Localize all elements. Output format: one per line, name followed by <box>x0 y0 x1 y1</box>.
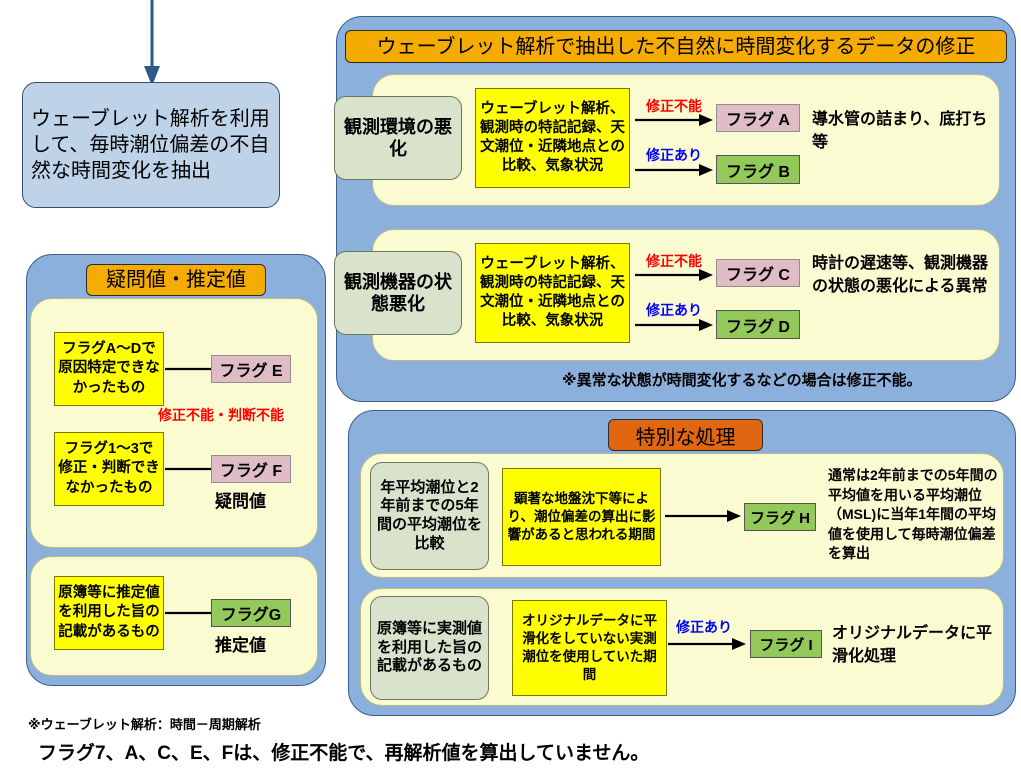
special-row-1-cause: 年平均潮位と2年前までの5年間の平均潮位を比較 <box>370 462 489 570</box>
special-row-1-flag: フラグ H <box>744 503 816 531</box>
questionable-row-2-condition: フラグ1～3で修正・判断できなかったもの <box>54 432 164 506</box>
footnote-1: ※ウェーブレット解析：時間－周期解析 <box>28 714 261 733</box>
special-row-2-arrow <box>668 637 748 651</box>
correction-row-1-flag-top: フラグ A <box>716 104 800 132</box>
intro-text: ウェーブレット解析を利用して、毎時潮位偏差の不自然な時間変化を抽出 <box>31 106 271 184</box>
estimated-condition: 原簿等に推定値を利用した旨の記載があるもの <box>54 576 164 650</box>
correction-row-2-arrow-bottom <box>635 318 715 332</box>
correction-row-1-label-bottom: 修正あり <box>646 145 702 165</box>
correction-row-2-arrow-top <box>635 268 715 282</box>
correction-row-1-arrow-top <box>635 113 715 127</box>
correction-row-2-description: 時計の遅速等、観測機器の状態の悪化による異常 <box>812 252 998 298</box>
method-text-2: ウェーブレット解析、観測時の特記記録、天文潮位・近隣地点との比較、気象状況 <box>479 255 626 332</box>
special-row-2-label: 修正あり <box>676 617 732 637</box>
questionable-red-label: 修正不能・判断不能 <box>158 405 284 425</box>
questionable-row-1-flag: フラグ E <box>211 355 291 383</box>
special-row-2-method: オリジナルデータに平滑化をしていない実測潮位を使用していた期間 <box>512 600 667 696</box>
correction-row-2-flag-bottom: フラグ D <box>716 310 800 339</box>
footnote-2: フラグ7、A、C、E、Fは、修正不能で、再解析値を算出していません。 <box>38 738 649 765</box>
correction-row-2-method: ウェーブレット解析、観測時の特記記録、天文潮位・近隣地点との比較、気象状況 <box>475 243 630 343</box>
panel-questionable-title-text: 疑問値・推定値 <box>106 270 246 290</box>
correction-row-1-cause: 観測環境の悪化 <box>334 96 462 180</box>
questionable-row-1-condition: フラグA～Dで原因特定できなかったもの <box>54 332 164 406</box>
correction-row-1-method: ウェーブレット解析、観測時の特記記録、天文潮位・近隣地点との比較、気象状況 <box>475 88 630 188</box>
panel-special-title: 特別な処理 <box>608 419 763 451</box>
correction-row-2-flag-top: フラグ C <box>716 259 800 287</box>
special-row-1-method: 顕著な地盤沈下等により、潮位偏差の算出に影響があると思われる期間 <box>502 468 661 566</box>
intro-box: ウェーブレット解析を利用して、毎時潮位偏差の不自然な時間変化を抽出 <box>22 82 280 208</box>
panel-correction-title: ウェーブレット解析で抽出した不自然に時間変化するデータの修正 <box>345 30 1007 63</box>
estimated-flag: フラグG <box>211 599 291 627</box>
panel-correction-title-text: ウェーブレット解析で抽出した不自然に時間変化するデータの修正 <box>377 37 976 57</box>
special-row-2-cause: 原簿等に実測値を利用した旨の記載があるもの <box>370 596 489 700</box>
correction-row-1-description: 導水管の詰まり、底打ち等 <box>812 108 992 154</box>
correction-row-1-arrow-bottom <box>635 163 715 177</box>
correction-note: ※異常な状態が時間変化するなどの場合は修正不能。 <box>562 369 922 390</box>
cause-text-2: 観測機器の状態悪化 <box>339 271 457 316</box>
questionable-row-2-flag: フラグ F <box>211 455 291 483</box>
correction-row-1-flag-bottom: フラグ B <box>716 155 800 184</box>
special-row-1-description: 通常は2年前までの5年間の平均値を用いる平均潮位（MSL)に当年1年間の平均値を… <box>828 466 1003 564</box>
panel-questionable-title: 疑問値・推定値 <box>86 264 266 296</box>
questionable-result-label: 疑問値 <box>215 490 266 515</box>
special-row-2-flag: フラグ I <box>750 630 822 658</box>
correction-row-2-label-bottom: 修正あり <box>646 300 702 320</box>
panel-special-title-text: 特別な処理 <box>636 421 736 450</box>
cause-text-1: 観測環境の悪化 <box>339 116 457 161</box>
special-row-1-arrow <box>665 509 743 523</box>
estimated-result-label: 推定値 <box>215 634 266 659</box>
method-text-1: ウェーブレット解析、観測時の特記記録、天文潮位・近隣地点との比較、気象状況 <box>479 100 626 177</box>
correction-row-2-cause: 観測機器の状態悪化 <box>334 251 462 335</box>
special-row-2-description: オリジナルデータに平滑化処理 <box>832 622 1004 668</box>
entry-arrow <box>140 0 164 90</box>
